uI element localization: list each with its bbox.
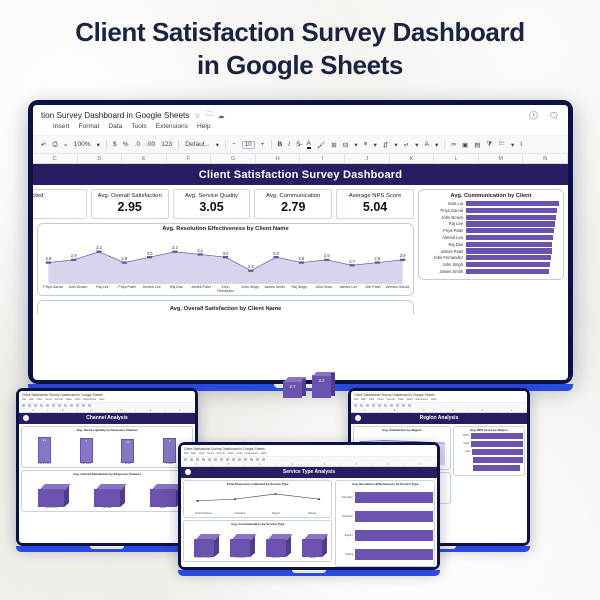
column-header[interactable]: B [213,463,245,466]
currency-icon[interactable]: $ [113,141,117,148]
data-point [400,259,405,261]
hbar-track [466,215,559,220]
kpi-card-responses-collected: es Collected 0 [33,189,87,219]
column-header-c[interactable]: C [33,154,78,163]
column-header-g[interactable]: G [211,154,256,163]
hbar-label: Ahmed Lee [423,235,463,240]
menu-item-view[interactable]: View [369,398,375,401]
hbar-fill [355,492,433,503]
toolbar-icon[interactable] [202,458,205,461]
wrap-chevron-down-icon[interactable]: ▾ [415,141,418,149]
menu-item-tools[interactable]: Tools [406,398,412,401]
hbar-row: South [455,441,522,447]
column-header-f[interactable]: F [167,154,212,163]
hbar-track [466,255,559,260]
functions-icon[interactable]: 🗠 [498,139,505,150]
menu-item-help[interactable]: Help [99,398,104,401]
chart-title: Avg. Overall Satisfaction by Response Ch… [24,472,191,476]
column-header[interactable]: F [498,409,527,412]
hbar-row: East [455,449,522,455]
cloud-icon: ☁ [218,112,225,120]
column-header-l[interactable]: L [434,154,479,163]
data-point [248,270,253,272]
hbar-label: Raj Das [423,242,463,247]
column-header-j[interactable]: J [345,154,390,163]
hbar-label: Raj Lee [423,221,463,226]
toolbar-icon[interactable] [262,458,265,461]
hbar-row: Sara Liu [423,201,559,206]
strikethrough-icon[interactable]: S̶ [296,141,300,148]
hbar-fill [466,201,559,206]
data-point-label: 2.9 [71,253,77,258]
kpi-value: 3.05 [175,200,249,214]
x-label: Training [301,513,323,515]
print-icon[interactable]: ⎙ [53,141,58,149]
column-header-k[interactable]: K [390,154,435,163]
x-label: Email [117,463,139,465]
sheets-title-row: tion Survey Dashboard in Google Sheets ☆… [41,110,560,121]
column-header-d[interactable]: D [78,154,123,163]
toolbar-divider [178,140,179,149]
hbar-label: South [455,443,469,445]
menu-item-edit[interactable]: Edit [191,452,195,455]
data-point-label: 2.8 [45,256,51,261]
mini-toolbar[interactable] [351,402,527,409]
toolbar-icon[interactable] [46,404,49,407]
page-title: Client Satisfaction Survey Dashboard in … [0,16,600,83]
x-label: Call Back [96,507,118,509]
menu-item-data[interactable]: Data [108,123,122,130]
toolbar-icon[interactable] [208,458,211,461]
hbar-track [466,201,559,206]
sheets-document-name[interactable]: Client Satisfaction Survey Dashboard in … [354,393,524,397]
bar3d-group [186,527,330,557]
menu-item-data[interactable]: Data [228,452,233,455]
data-point [172,251,177,253]
align-chevron-down-icon[interactable]: ▾ [374,141,377,149]
sheets-menubar: File Edit View Insert Format Data Tools … [22,398,192,401]
hbar-row: Support [338,530,433,541]
mini-sheets-header: Client Satisfaction Survey Dashboard in … [351,391,527,402]
hbar-track [466,221,559,226]
hbar-fill [355,530,433,541]
kpi-label: Avg. Overall Satisfaction [93,193,167,199]
chart-avg-communication-by-service-type: Avg. Communication by Service Type Produ… [183,520,332,562]
hbar-label: Sara Liu [423,201,463,206]
data-point [317,498,320,500]
x-label: James Patel [189,285,214,293]
bar-value: 3.1 [39,439,50,442]
input-tools-icon[interactable]: I [520,141,522,148]
line-chart-plot [186,487,330,513]
toolbar-icon[interactable] [22,404,25,407]
decimal-decrease-icon[interactable]: .0 [135,141,141,148]
menu-item-view[interactable]: View [199,452,205,455]
borders-icon[interactable]: ⊞ [331,141,337,149]
kpi-label: Avg. Service Quality [175,193,249,199]
column-header[interactable]: C [245,463,277,466]
hbar-fill [466,269,549,274]
right-dashboard-banner: Region Analysis [351,413,527,424]
column-header[interactable]: F [341,463,373,466]
sheets-document-name[interactable]: Client Satisfaction Survey Dashboard in … [22,393,192,397]
menu-item-view[interactable]: View [37,398,43,401]
x-label: John Khan [312,285,337,293]
x-label: John Brown [66,285,91,293]
column-header[interactable]: E [136,409,165,412]
menu-item-tools[interactable]: Tools [131,123,146,130]
menu-item-insert[interactable]: Insert [377,398,384,401]
x-label: Consulting [229,513,251,515]
toolbar-icon[interactable] [196,458,199,461]
x-label: Priya Garcia [41,285,66,293]
center-tablet-screen: Client Satisfaction Survey Dashboard in … [178,442,440,570]
data-point [233,498,236,500]
toolbar-divider [106,140,107,149]
x-label: James Lee [336,285,361,293]
chart-title: Avg. Service Quality by Response Channel [24,428,191,432]
x-label: James Smith [262,285,287,293]
bar3d-group [24,477,191,507]
insert-comment-icon[interactable]: ▣ [462,141,468,149]
toolbar-icon[interactable] [28,404,31,407]
menu-item-format[interactable]: Format [387,398,395,401]
text-rotation-icon[interactable]: A [425,141,429,148]
toolbar-icon[interactable] [64,404,67,407]
text-color-icon[interactable]: A [307,140,311,149]
data-point-label: 3.0 [223,251,229,256]
bar3d-item [150,489,176,507]
menu-item-insert[interactable]: Insert [45,398,52,401]
toolbar-icon[interactable] [384,404,387,407]
column-header-e[interactable]: E [122,154,167,163]
hbar-fill [466,262,550,267]
data-point-label: 2.8 [374,256,380,261]
toolbar-icon[interactable] [40,404,43,407]
chart-avg-overall-satisfaction-by-channel: Avg. Overall Satisfaction by Response Ch… [21,470,193,512]
hbar-fill [473,457,522,463]
vertical-align-icon[interactable]: ⇵ [383,141,389,149]
hbar-row: North [455,433,522,439]
menu-item-format[interactable]: Format [79,123,100,130]
column-header[interactable]: D [439,409,468,412]
column-header[interactable]: D [277,463,309,466]
toolbar-icon[interactable] [366,404,369,407]
comment-icon[interactable]: 🗨 [549,111,559,120]
menu-item-tools[interactable]: Tools [74,398,80,401]
column-header[interactable]: E [468,409,497,412]
hbar-label: East [455,451,470,453]
chart-avg-resolution-effectiveness-by-service-type: Avg. Resolution Effectiveness by Service… [335,480,435,567]
bar3d-item [266,539,286,557]
column-header[interactable]: G [373,463,405,466]
hbar-label: John Brown [423,215,463,220]
italic-icon[interactable]: I [288,141,290,148]
data-point-label: 2.7 [349,259,355,264]
menu-item-data[interactable]: Data [66,398,71,401]
hbar-row: John Brown [423,215,559,220]
menu-item-format[interactable]: Format [55,398,63,401]
hbar-label: John Fernandez [423,255,463,260]
sheets-document-name[interactable]: tion Survey Dashboard in Google Sheets [41,111,189,120]
hbar-fill [466,235,553,240]
column-header[interactable]: D [107,409,136,412]
toolbar-icon[interactable] [390,404,393,407]
center-dashboard-content: Total Responses Collected by Service Typ… [181,478,437,568]
fill-color-icon[interactable]: 🖌 [317,141,325,149]
bar3d-item [194,539,214,557]
bar3d-front [150,489,176,507]
toolbar-icon[interactable] [58,404,61,407]
data-point [274,256,279,258]
menu-item-file[interactable]: File [354,398,358,401]
chart-title: Avg. Satisfaction by Region [356,428,449,432]
hbar-label: Priya Patel [423,228,463,233]
toolbar-icon[interactable] [70,404,73,407]
menu-item-help[interactable]: Help [431,398,436,401]
column-header[interactable]: F [166,409,195,412]
horizontal-align-icon[interactable]: ≡ [364,141,368,148]
hbar-row: James Patel [423,248,559,253]
menu-item-help[interactable]: Help [261,452,266,455]
column-header[interactable]: B [380,409,409,412]
undo-icon[interactable]: ↶ [41,141,47,149]
toolbar-icon[interactable] [220,458,223,461]
area-chart-plot: 2.82.93.22.83.03.23.13.02.53.02.82.92.72… [41,232,410,284]
bar3d-item: 2.7 [283,381,302,398]
text-wrap-icon[interactable]: ↵ [404,141,410,149]
column-header-m[interactable]: M [479,154,524,163]
hbar-fill [471,433,523,439]
toolbar-icon[interactable] [214,458,217,461]
sheets-toolbar: ↶ ⎙ ⌁ 100% ▾ $ % .0 .00 123 Defaul... ▾ … [33,135,568,153]
merge-chevron-down-icon[interactable]: ▾ [354,141,357,149]
bar3d-front [266,539,286,557]
kpi-value: 2.79 [256,200,330,214]
toolbar-icon[interactable] [354,404,357,407]
filter-icon[interactable]: ⧩ [486,141,492,149]
column-header[interactable]: B [48,409,77,412]
chart-avg-overall-satisfaction-by-client: Avg. Overall Satisfaction by Client Name [37,300,414,314]
data-point-label: 2.8 [298,256,304,261]
center-dashboard-banner: Service Type Analysis [181,467,437,478]
column-header[interactable]: E [309,463,341,466]
bold-icon[interactable]: B [278,141,283,148]
x-label: John Fernandez [213,285,238,293]
bar3d-item [230,539,250,557]
hbar-fill [466,208,557,213]
menu-item-help[interactable]: Help [197,123,211,130]
hbar-label: North [455,435,468,437]
menu-item-file[interactable]: File [22,398,26,401]
toolbar-icon[interactable] [232,458,235,461]
kpi-card-avg-communication: Avg. Communication 2.79 [254,189,332,219]
menu-item-data[interactable]: Data [398,398,403,401]
page-title-line2: in Google Sheets [0,49,600,82]
sheets-menubar: File Edit View Insert Format Data Tools … [354,398,524,401]
insert-chart-icon[interactable]: ▤ [474,141,480,149]
center-tablet-device: Client Satisfaction Survey Dashboard in … [178,442,440,576]
data-point [198,253,203,255]
menu-item-extensions[interactable]: Extensions [156,123,188,130]
data-point [324,259,329,261]
bar3d-item [94,489,120,507]
data-point [375,261,380,263]
toolbar-divider [225,140,226,149]
hbar-track [466,269,559,274]
move-folder-icon[interactable]: 🗀 [206,110,213,121]
x-label: Priya Patel [115,285,140,293]
menu-item-insert[interactable]: Insert [53,123,70,130]
x-label: Raj Das [164,285,189,293]
chart-title: Avg. Communication by Service Type [186,522,330,526]
x-label: Raj Singh [287,285,312,293]
sheets-document-name[interactable]: Client Satisfaction Survey Dashboard in … [184,447,434,451]
toolbar-icon[interactable] [190,458,193,461]
more-formats-icon[interactable]: 123 [161,141,172,148]
toolbar-icon[interactable] [226,458,229,461]
banner-title: Service Type Analysis [283,469,335,475]
menu-item-tools[interactable]: Tools [236,452,242,455]
data-point-label: 3.0 [273,251,279,256]
bar3d-front [194,539,214,557]
hbar-track [466,235,559,240]
hbar-fill [466,215,556,220]
column-header[interactable]: A [181,463,213,466]
column-header[interactable]: C [410,409,439,412]
left-sheets-window: Client Satisfaction Survey Dashboard in … [19,391,195,543]
functions-chevron-down-icon[interactable]: ▾ [511,141,514,149]
toolbar-icon[interactable] [402,404,405,407]
toolbar-icon[interactable] [360,404,363,407]
menu-item-edit[interactable]: Edit [361,398,365,401]
column-header-i[interactable]: I [300,154,345,163]
hbar-row: Priya Garcia [423,208,559,213]
menu-item-extensions[interactable]: Extensions [84,398,97,401]
column-header[interactable]: H [405,463,437,466]
column-header[interactable]: A [351,409,380,412]
merge-cells-icon[interactable]: ⊟ [343,141,349,149]
chart-total-responses-by-service-type: Total Responses Collected by Service Typ… [183,480,332,518]
kpi-value: 0 [33,200,85,214]
history-icon[interactable]: 🕐 [529,111,539,120]
line-chart-svg [186,487,330,513]
font-size-input[interactable]: 10 [242,141,255,149]
font-size-decrease-button[interactable]: − [232,141,236,148]
column-header-h[interactable]: H [256,154,301,163]
valign-chevron-down-icon[interactable]: ▾ [394,141,397,149]
banner-title: Region Analysis [420,415,459,421]
toolbar-icon[interactable] [52,404,55,407]
sheets-header: tion Survey Dashboard in Google Sheets ☆… [33,105,568,132]
toolbar-icon[interactable] [408,404,411,407]
sheets-header-actions: 🕐 🗨 [529,111,559,120]
menu-item-extensions[interactable]: Extensions [416,398,429,401]
hbar-track [466,262,559,267]
hbar-label: James Smith [423,269,463,274]
menu-item-edit[interactable]: Edit [29,398,33,401]
bar3d-front [230,539,250,557]
bar-value: 3.2 [312,378,331,383]
column-header-n[interactable]: N [523,154,568,163]
hbar-fill [355,511,433,522]
toolbar-icon[interactable] [244,458,247,461]
hbar-track [466,228,559,233]
toolbar-icon[interactable] [76,404,79,407]
main-laptop-device: tion Survey Dashboard in Google Sheets ☆… [28,100,573,391]
bar-value: 2.7 [283,384,302,389]
x-label: Support [265,557,287,559]
bar3d-front [302,539,322,557]
toolbar-icon[interactable] [34,404,37,407]
font-family-select[interactable]: Defaul... [185,141,210,148]
x-label: Raj Lee [90,285,115,293]
percent-icon[interactable]: % [123,141,129,148]
zoom-level[interactable]: 100% [74,141,91,148]
data-point [196,500,199,502]
font-size-increase-button[interactable]: + [261,141,265,148]
toolbar-icon[interactable] [88,404,91,407]
star-icon[interactable]: ☆ [194,112,200,120]
menu-item-file[interactable]: File [184,452,188,455]
data-point [46,261,51,263]
chart-title: Avg. Overall Satisfaction by Client Name [41,303,410,314]
menu-item-insert[interactable]: Insert [207,452,214,455]
hbar-fill [466,242,552,247]
hbar-row: Consulting [338,492,433,503]
x-label: Support [265,513,287,515]
bar-x-labels: Online Form Call Back Email [24,507,191,509]
toolbar-icon[interactable] [238,458,241,461]
left-dashboard-content: Avg. Service Quality by Response Channel… [19,424,195,516]
hbar-row [455,465,522,471]
menu-item-extensions[interactable]: Extensions [246,452,259,455]
link-icon[interactable]: ∞ [451,141,456,148]
hbar-row: Raj Das [423,242,559,247]
zoom-chevron-down-icon[interactable]: ▾ [97,141,100,149]
data-point-label: 2.9 [400,253,406,258]
toolbar-icon[interactable] [184,458,187,461]
data-point-label: 3.1 [197,248,203,253]
mini-toolbar[interactable] [181,456,437,463]
toolbar-icon[interactable] [256,458,259,461]
hbar-fill [473,465,520,471]
toolbar-icon[interactable] [396,404,399,407]
data-point [122,261,127,263]
decimal-increase-icon[interactable]: .00 [146,141,155,148]
toolbar-icon[interactable] [378,404,381,407]
toolbar-icon[interactable] [82,404,85,407]
bar-value: 3 [164,440,175,443]
hbar-fill [466,255,551,260]
bar-x-labels: Product Delivery Consulting Support Trai… [186,557,330,559]
mini-toolbar[interactable] [19,402,195,409]
toolbar-icon[interactable] [250,458,253,461]
column-header[interactable]: A [19,409,48,412]
paint-format-icon[interactable]: ⌁ [64,141,68,149]
rotation-chevron-down-icon[interactable]: ▾ [435,141,438,149]
data-point-label: 3.2 [96,245,102,250]
vertical-bar-group: 3.1 3 2.9 3 [24,433,191,463]
column-header[interactable]: C [78,409,107,412]
toolbar-icon[interactable] [372,404,375,407]
kpi-card-row: es Collected 0 Avg. Overall Satisfaction… [37,189,414,219]
menu-item-format[interactable]: Format [217,452,225,455]
font-chevron-down-icon[interactable]: ▾ [216,141,219,149]
bar3d-group: 2.7 3.2 [262,372,352,398]
center-tablet-base [178,570,440,576]
dashboard-content: es Collected 0 Avg. Overall Satisfaction… [33,185,568,314]
